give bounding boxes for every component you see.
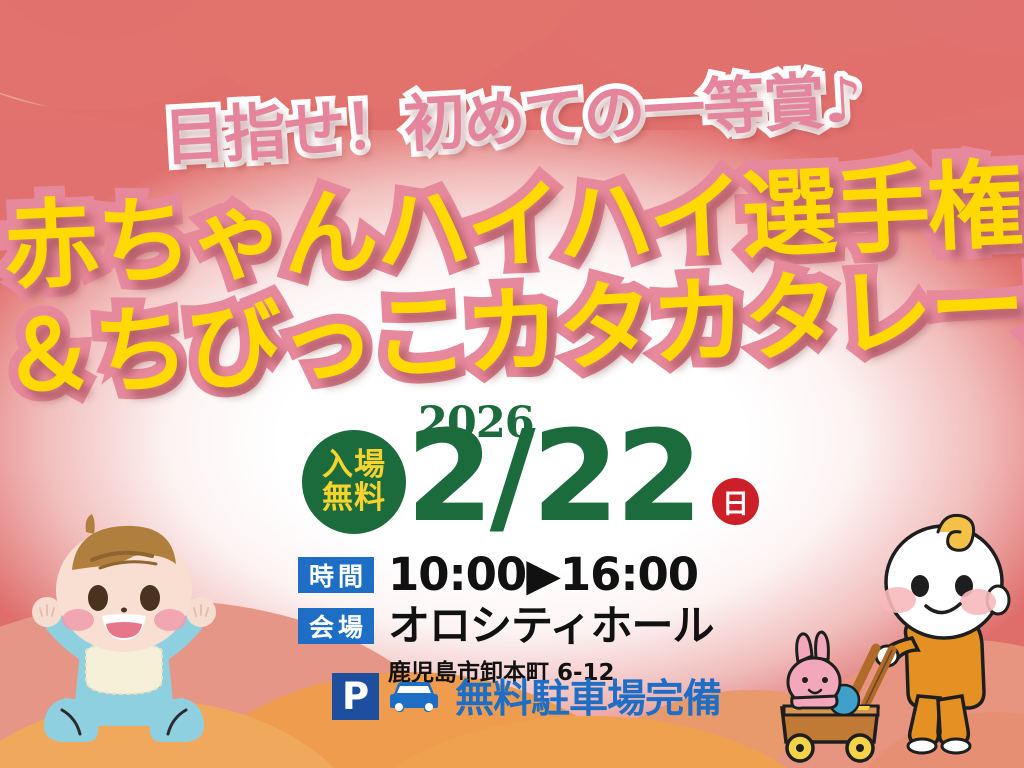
parking-text: 無料駐車場完備	[455, 668, 721, 724]
time-value: 10:00▶16:00	[388, 552, 698, 597]
poster-canvas: 目指せ！初めての一等賞♪ 赤ちゃんハイハイ選手権 ＆ちびっこカタカタレース 入場…	[0, 0, 1024, 768]
event-weekday-badge: 日	[712, 478, 759, 525]
parking-p-icon: P	[332, 673, 379, 720]
time-label: 時間	[298, 557, 374, 593]
event-date: 2/22	[406, 414, 699, 540]
venue-label: 会場	[298, 608, 374, 644]
free-admission-badge: 入場 無料	[302, 430, 406, 534]
car-icon	[388, 676, 440, 716]
free-admission-line-1: 入場	[322, 449, 386, 482]
toddler-cart-illustration	[772, 510, 1022, 768]
parking-info: P 無料駐車場完備	[332, 668, 721, 724]
venue-value: オロシティホール	[388, 605, 713, 647]
free-admission-line-2: 無料	[322, 482, 386, 515]
info-row-time: 時間 10:00▶16:00	[298, 552, 768, 597]
poster-title: 赤ちゃんハイハイ選手権 ＆ちびっこカタカタレース	[0, 178, 1024, 382]
baby-illustration	[10, 512, 250, 768]
event-date-block: 入場 無料 2026 2/22 日	[296, 396, 766, 536]
event-info: 時間 10:00▶16:00 会場 オロシティホール 鹿児島市卸本町 6-12	[298, 552, 768, 687]
info-row-venue: 会場 オロシティホール	[298, 605, 768, 647]
